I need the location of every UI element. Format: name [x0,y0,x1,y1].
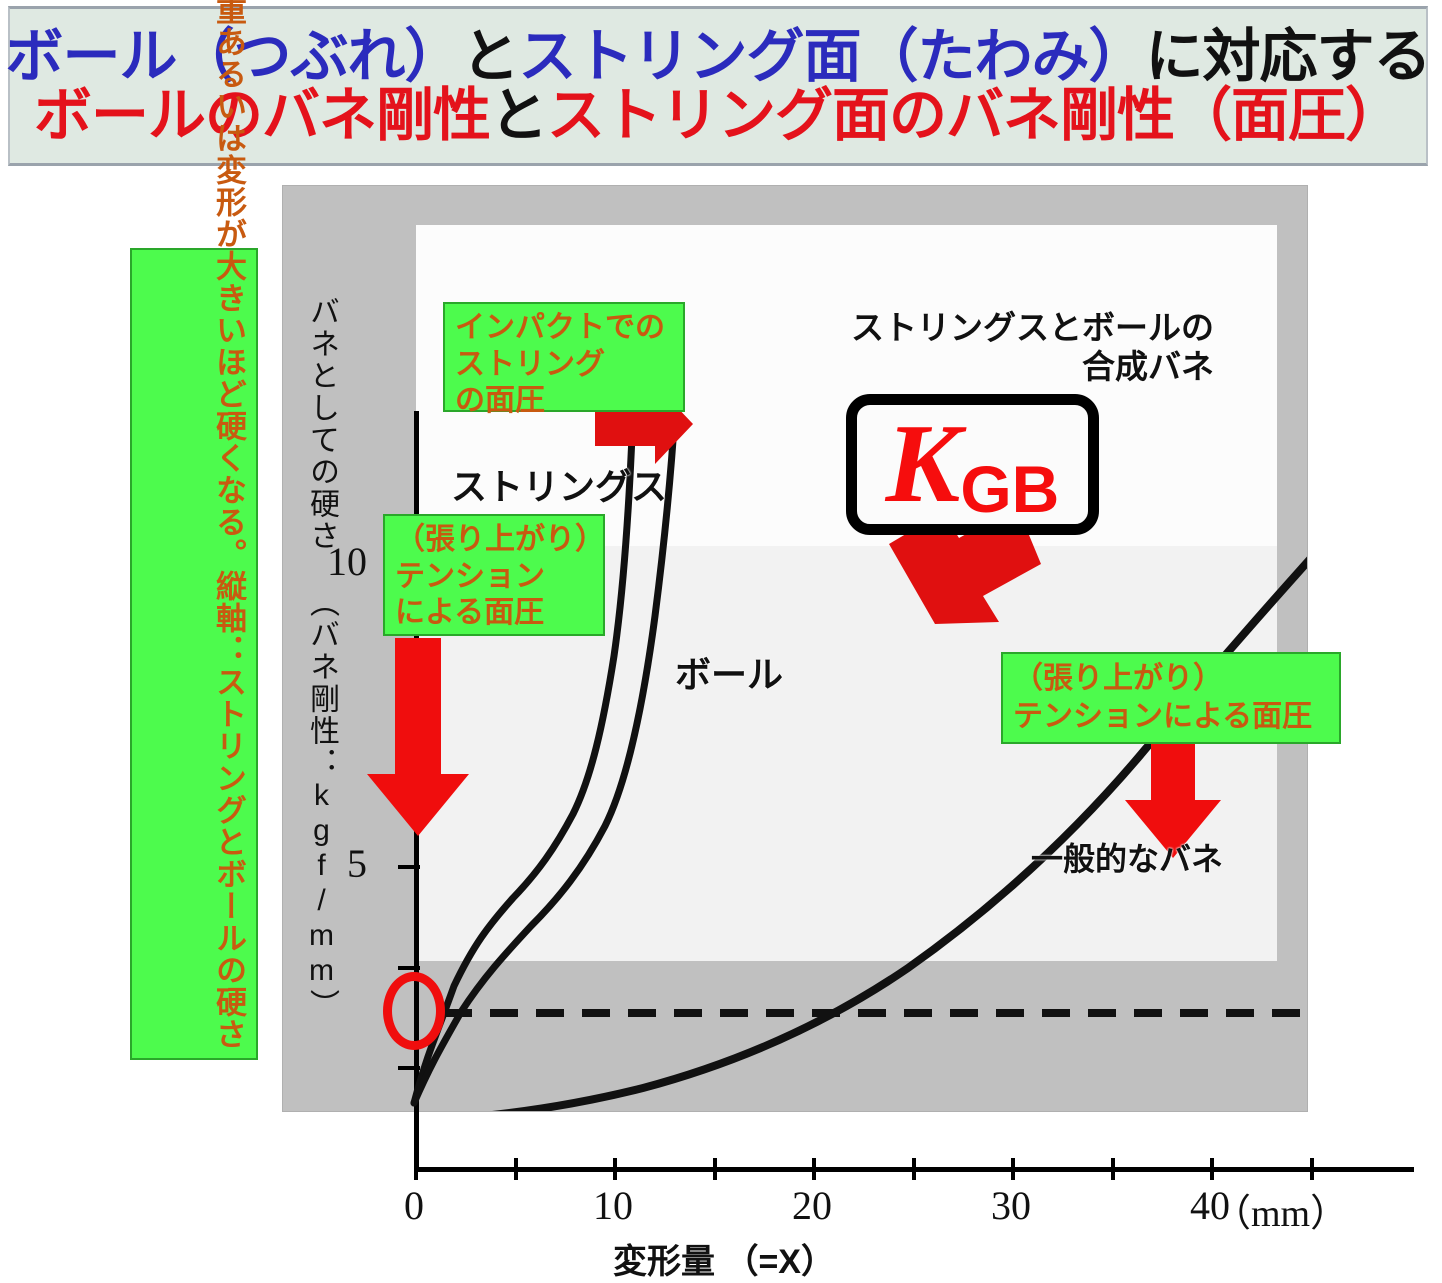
x-tick-10 [613,1158,617,1180]
callout-impact-line-3: の面圧 [455,383,673,420]
callout-tension-right: （張り上がり） テンションによる面圧 [1001,652,1341,744]
callout-tension-right-line-1: （張り上がり） [1013,660,1329,698]
left-vertical-note-panel: 縦軸：ストリングとボールの硬さ ∴荷重あるいは変形が大きいほど硬くなる。 [130,248,258,1060]
chart-panel: 10 5 0 10 20 30 40 （mm） バネとしての硬さ （バネ剛性：k… [283,186,1307,1111]
x-tick-45 [1310,1158,1314,1180]
title-seg-and-2: と [490,83,547,148]
title-seg-and-1: と [461,24,518,89]
x-axis-unit-label: （mm） [1213,1182,1348,1237]
x-tick-25 [912,1158,916,1180]
left-note-line-1: 縦軸：ストリングとボールの硬さ [136,570,252,1050]
callout-impact-line-2: ストリング [455,347,673,384]
x-tick-label-20: 20 [792,1182,832,1229]
kgb-badge-subscript: GB [960,463,1059,516]
curve-label-composite: ストリングスとボールの 合成バネ [851,309,1214,387]
curve-label-generic-spring: 一般的なバネ [1031,834,1223,880]
title-seg-corresponding: に対応する [1146,24,1431,89]
curve-label-strings: ストリングス [451,458,667,510]
origin-highlight-circle [383,972,445,1050]
x-tick-35 [1111,1158,1115,1180]
x-tick-label-10: 10 [593,1182,633,1229]
callout-tension-left-line-2: テンション [395,559,593,596]
x-tick-label-0: 0 [404,1182,424,1229]
x-tick-5 [514,1158,518,1180]
title-seg-stringbed-stiffness: ストリング面のバネ剛性（面圧） [547,83,1402,148]
curve-label-ball: ボール [675,646,783,698]
callout-tension-left: （張り上がり） テンション による面圧 [383,514,605,636]
kgb-badge-main-letter: K [886,420,961,510]
callout-tension-left-line-1: （張り上がり） [395,522,593,559]
composite-label-line-1: ストリングスとボールの [851,309,1214,348]
x-tick-40 [1210,1158,1214,1180]
x-axis-title: 変形量 （=X） [613,1234,835,1283]
x-tick-0 [414,1158,418,1180]
kgb-badge: KGB [846,394,1099,535]
callout-tension-left-line-3: による面圧 [395,595,593,632]
x-tick-30 [1011,1158,1015,1180]
x-tick-20 [812,1158,816,1180]
left-note-line-2: ∴荷重あるいは変形が大きいほど硬くなる。 [136,0,252,570]
title-seg-ball-stiffness: ボールのバネ剛性 [34,83,490,148]
x-tick-15 [713,1158,717,1180]
callout-impact-line-1: インパクトでの [455,310,673,347]
callout-impact-string-pressure: インパクトでの ストリング の面圧 [443,302,685,412]
callout-tension-right-line-2: テンションによる面圧 [1013,698,1329,736]
x-tick-label-30: 30 [991,1182,1031,1229]
title-seg-stringbed-deflect: ストリング面（たわみ） [519,24,1146,89]
composite-label-line-2: 合成バネ [851,348,1214,387]
